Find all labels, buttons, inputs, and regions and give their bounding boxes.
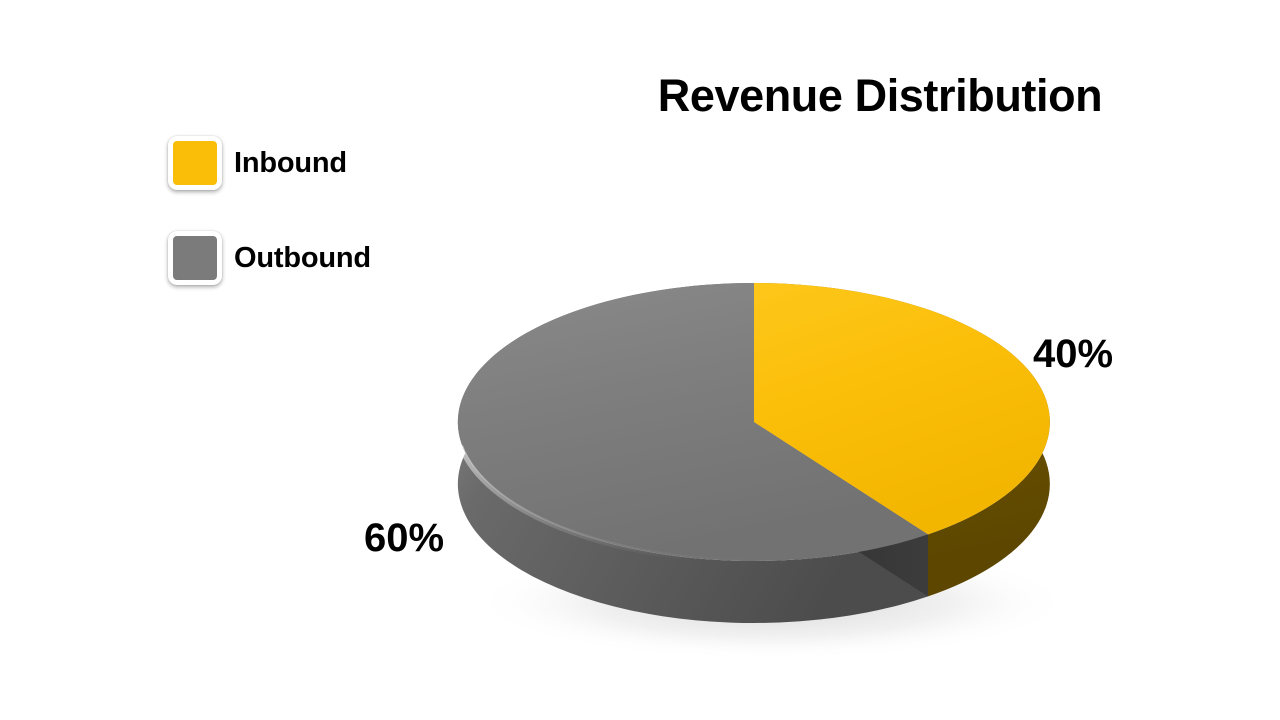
legend-swatch-icon-outbound: [168, 231, 222, 285]
legend-swatch-icon-inbound: [168, 136, 222, 190]
legend-label-outbound: Outbound: [234, 242, 371, 275]
data-label-outbound: 60%: [364, 516, 444, 561]
legend-label-inbound: Inbound: [234, 147, 347, 180]
legend-item-inbound[interactable]: Inbound: [168, 132, 468, 194]
pie-chart[interactable]: [420, 250, 1120, 680]
page-title: Revenue Distribution: [560, 70, 1200, 122]
data-label-inbound: 40%: [1033, 332, 1113, 377]
pie-chart-graphic[interactable]: [420, 250, 1120, 680]
slide-canvas: Revenue Distribution Inbound Outbound: [0, 0, 1280, 720]
